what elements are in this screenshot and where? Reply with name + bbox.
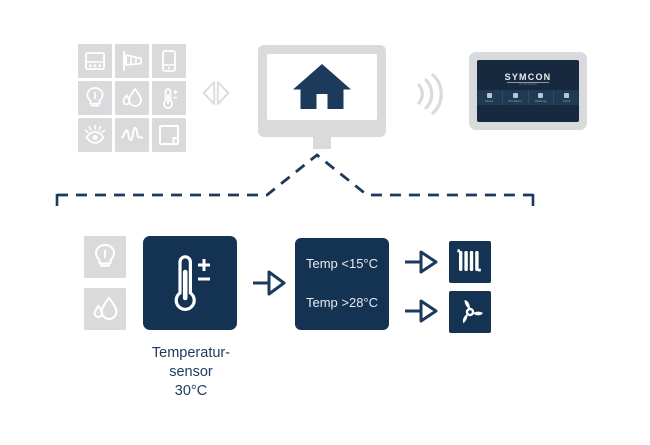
thermometer-icon [158, 248, 222, 318]
tablet-tab-kfz-demo[interactable]: Kfz-Demo [503, 90, 529, 105]
monitor-base [286, 127, 358, 136]
temperature-sensor-tile[interactable] [143, 236, 237, 330]
condition-row[interactable]: Temp >28°C [295, 295, 389, 310]
flow-lightbulb-icon [84, 236, 126, 278]
flow-water-drops-icon [84, 288, 126, 330]
sensor-icon-grid [78, 44, 186, 152]
tablet-tab-label: Demo [485, 99, 493, 103]
pulse-wave-icon [115, 118, 149, 152]
tablet-tab-demo[interactable]: Demo [477, 90, 503, 105]
door-contact-icon [152, 118, 186, 152]
thermometer-icon [152, 81, 186, 115]
temperature-sensor-label: Temperatur- sensor 30°C [130, 344, 252, 401]
tablet-screen[interactable]: SYMCON IP-SYMCON Demo Kfz-Demo Planung [477, 60, 579, 122]
wifi-signal-icon [411, 72, 451, 116]
tablet-brand-logo: SYMCON [477, 72, 579, 82]
automation-scope-bracket [45, 150, 545, 212]
tablet-brand-subtitle: IP-SYMCON [477, 83, 579, 86]
diagram-canvas: SYMCON IP-SYMCON Demo Kfz-Demo Planung [0, 0, 650, 445]
tablet-tab-label: Icons [563, 99, 570, 103]
condition-box[interactable]: Temp <15°C Temp >28°C [295, 238, 389, 330]
display-panel-icon [78, 44, 112, 78]
wall-tablet[interactable]: SYMCON IP-SYMCON Demo Kfz-Demo Planung [469, 52, 587, 130]
lightbulb-icon [78, 81, 112, 115]
radiator-action-tile[interactable] [449, 241, 491, 283]
text-icon [564, 93, 569, 98]
smartphone-icon [152, 44, 186, 78]
tablet-tab-bar[interactable]: Demo Kfz-Demo Planung Icons [477, 90, 579, 105]
grid-icon [538, 93, 543, 98]
tablet-tab-planung[interactable]: Planung [529, 90, 555, 105]
flow-arrow-to-fan [404, 299, 438, 323]
radiator-icon [454, 247, 486, 277]
house-icon [291, 61, 353, 113]
bidirectional-arrows-icon [201, 80, 231, 106]
fan-action-tile[interactable] [449, 291, 491, 333]
windsock-icon [115, 44, 149, 78]
flow-arrow-to-radiator [404, 250, 438, 274]
monitor-neck [313, 137, 331, 149]
central-server-monitor [258, 45, 386, 137]
sensor-title-line2: sensor [130, 363, 252, 382]
sensor-title-line1: Temperatur- [130, 344, 252, 363]
monitor-screen [267, 54, 377, 120]
condition-row[interactable]: Temp <15°C [295, 256, 389, 271]
car-icon [513, 93, 518, 98]
home-icon [487, 93, 492, 98]
flow-arrow-to-conditions [252, 270, 286, 296]
tablet-tab-label: Kfz-Demo [509, 99, 522, 103]
fan-icon [454, 296, 486, 328]
tablet-tab-icons[interactable]: Icons [554, 90, 579, 105]
water-drops-icon [115, 81, 149, 115]
sensor-value: 30°C [130, 382, 252, 401]
motion-eye-icon [78, 118, 112, 152]
tablet-tab-label: Planung [535, 99, 546, 103]
